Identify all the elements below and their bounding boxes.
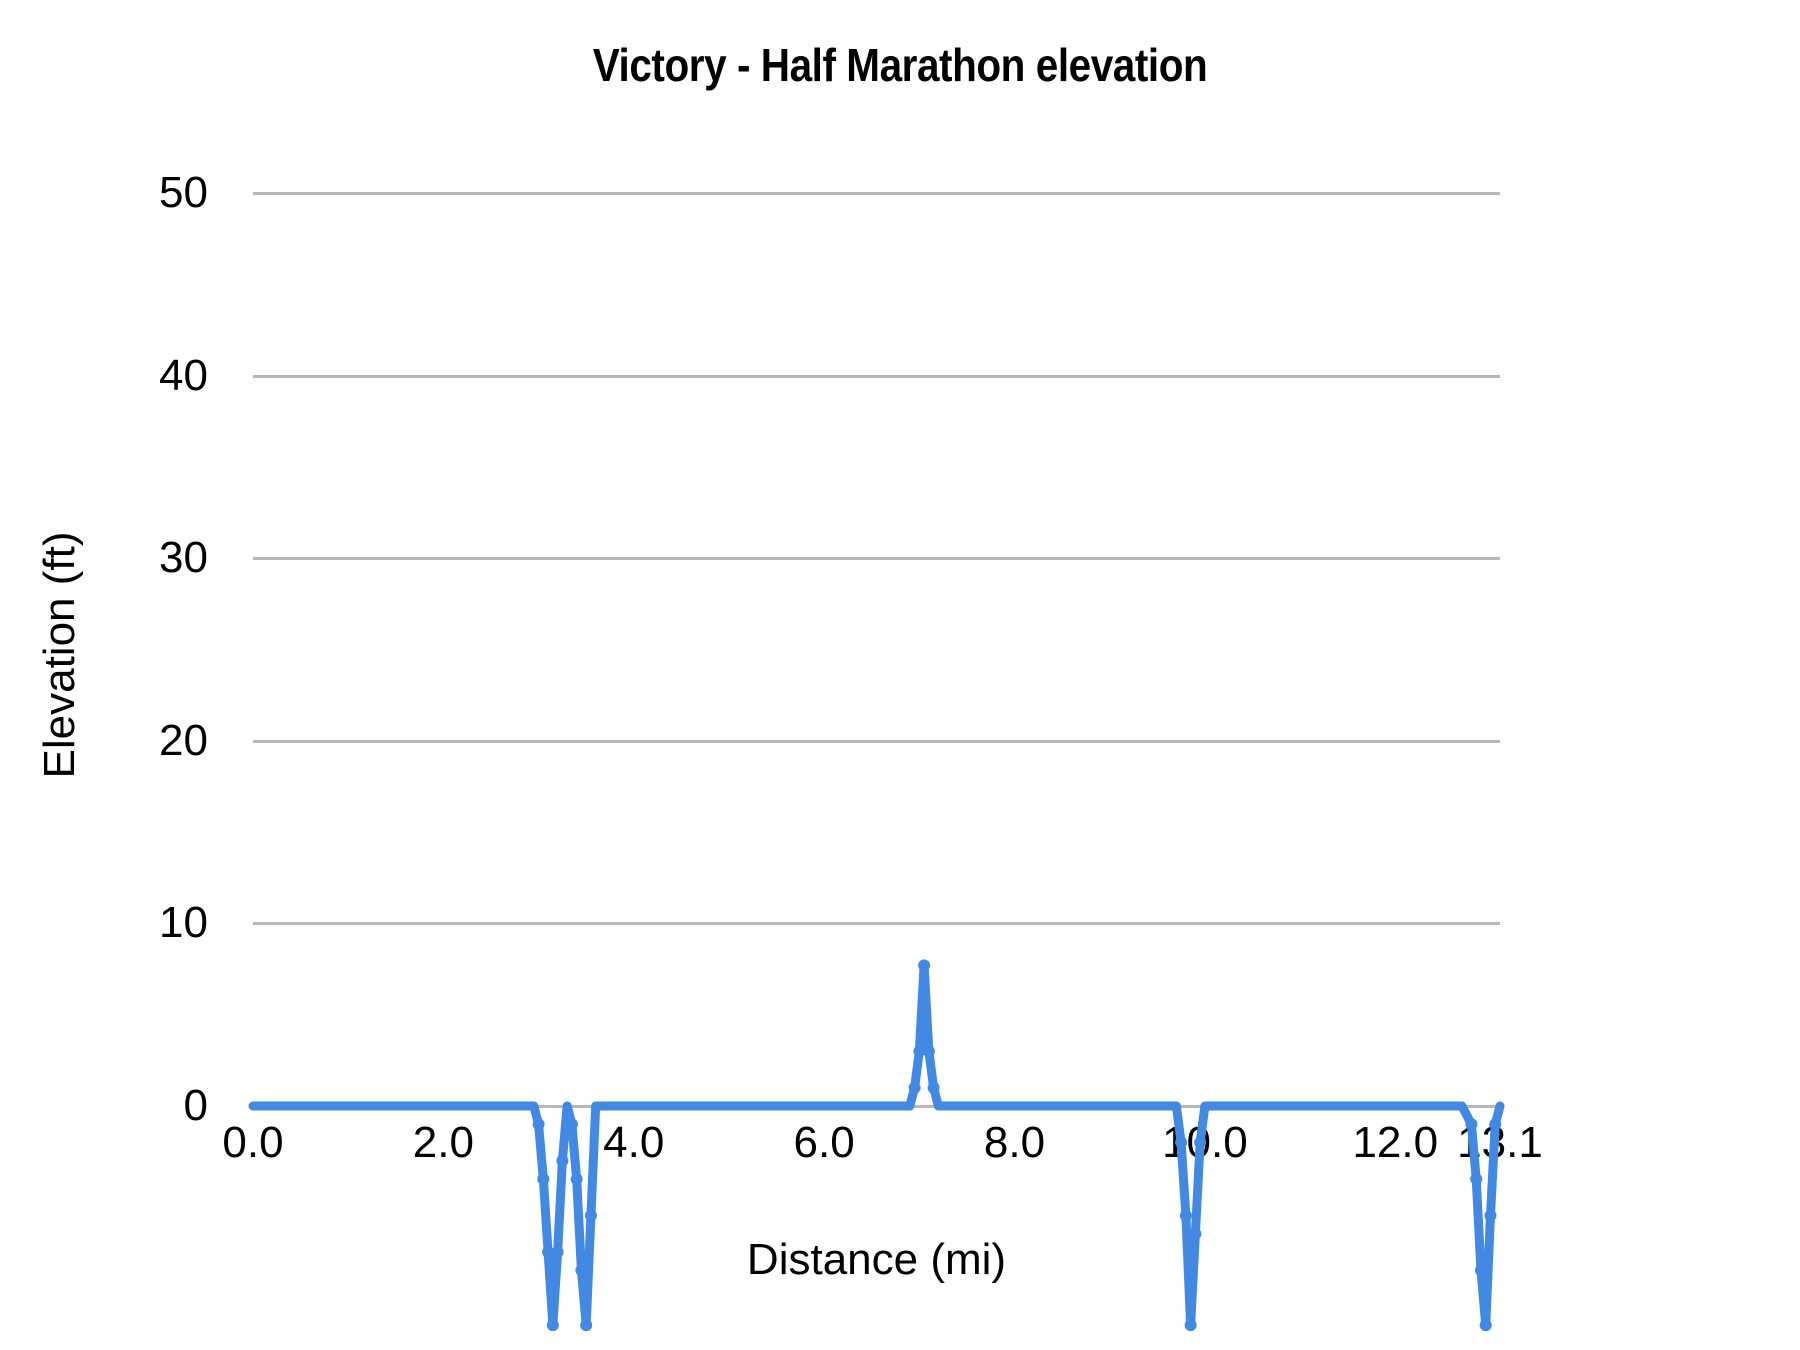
data-point-marker (1185, 1319, 1197, 1331)
x-tick-8.0: 8.0 (984, 1118, 1045, 1168)
x-tick-0.0: 0.0 (222, 1118, 283, 1168)
gridline (253, 922, 1500, 925)
chart-container: Victory - Half Marathon elevation Elevat… (0, 0, 1800, 1350)
y-axis-tick-labels: 01020304050 (0, 193, 238, 1106)
data-point-marker (547, 1319, 559, 1331)
x-axis-tick-labels: 0.02.04.06.08.010.012.013.1 (253, 1118, 1500, 1178)
plot-area (253, 193, 1500, 1106)
gridline (253, 1105, 1500, 1108)
y-tick-30: 30 (0, 533, 238, 583)
gridline (253, 192, 1500, 195)
data-point-marker (1484, 1210, 1496, 1222)
y-tick-50: 50 (0, 168, 238, 218)
chart-title: Victory - Half Marathon elevation (108, 38, 1692, 92)
y-tick-10: 10 (0, 898, 238, 948)
gridline (253, 557, 1500, 560)
gridline (253, 375, 1500, 378)
x-tick-13.1: 13.1 (1457, 1118, 1543, 1168)
data-point-marker (585, 1210, 597, 1222)
x-tick-12.0: 12.0 (1352, 1118, 1438, 1168)
x-axis-label: Distance (mi) (253, 1235, 1500, 1285)
y-tick-0: 0 (0, 1081, 238, 1131)
gridline (253, 740, 1500, 743)
x-tick-2.0: 2.0 (413, 1118, 474, 1168)
x-tick-6.0: 6.0 (794, 1118, 855, 1168)
data-point-marker (1480, 1319, 1492, 1331)
x-tick-10.0: 10.0 (1162, 1118, 1248, 1168)
x-tick-4.0: 4.0 (603, 1118, 664, 1168)
data-point-marker (580, 1319, 592, 1331)
y-tick-40: 40 (0, 351, 238, 401)
y-tick-20: 20 (0, 716, 238, 766)
data-point-marker (1180, 1210, 1192, 1222)
